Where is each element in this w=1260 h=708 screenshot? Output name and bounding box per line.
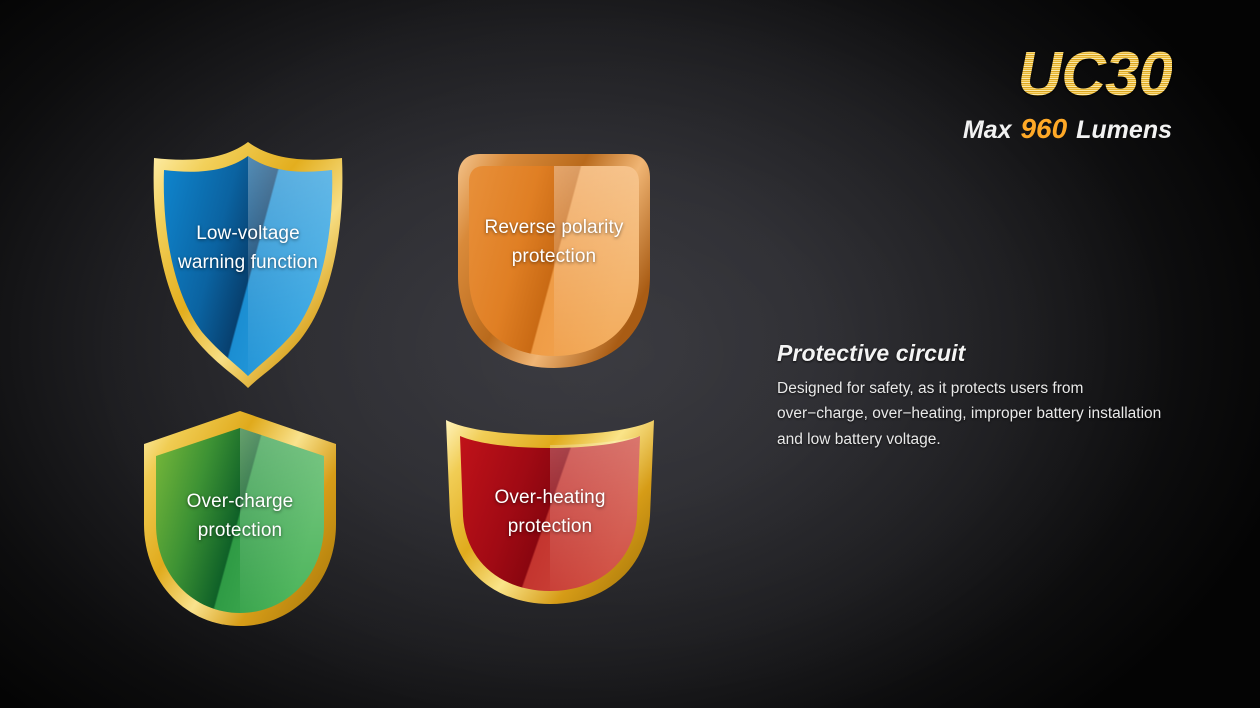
shield-over-heating: Over-heating protection xyxy=(442,418,658,608)
slide-canvas: UC30 Max 960 Lumens Protective circuit D… xyxy=(0,0,1260,708)
shield-low-voltage: Low-voltage warning function xyxy=(146,140,350,390)
description-heading: Protective circuit xyxy=(777,340,1177,367)
shield-over-charge: Over-charge protection xyxy=(140,408,340,630)
lumens-line: Max 960 Lumens xyxy=(963,115,1172,143)
description-block: Protective circuit Designed for safety, … xyxy=(777,340,1177,452)
product-model-title: UC30 xyxy=(963,44,1172,106)
brand-block: UC30 Max 960 Lumens xyxy=(963,44,1172,143)
description-body: Designed for safety, as it protects user… xyxy=(777,376,1177,452)
shield-reverse-polarity: Reverse polarity protection xyxy=(452,150,656,372)
lumens-value: 960 xyxy=(1018,113,1069,144)
lumens-suffix: Lumens xyxy=(1076,116,1172,144)
lumens-prefix: Max xyxy=(963,116,1012,144)
